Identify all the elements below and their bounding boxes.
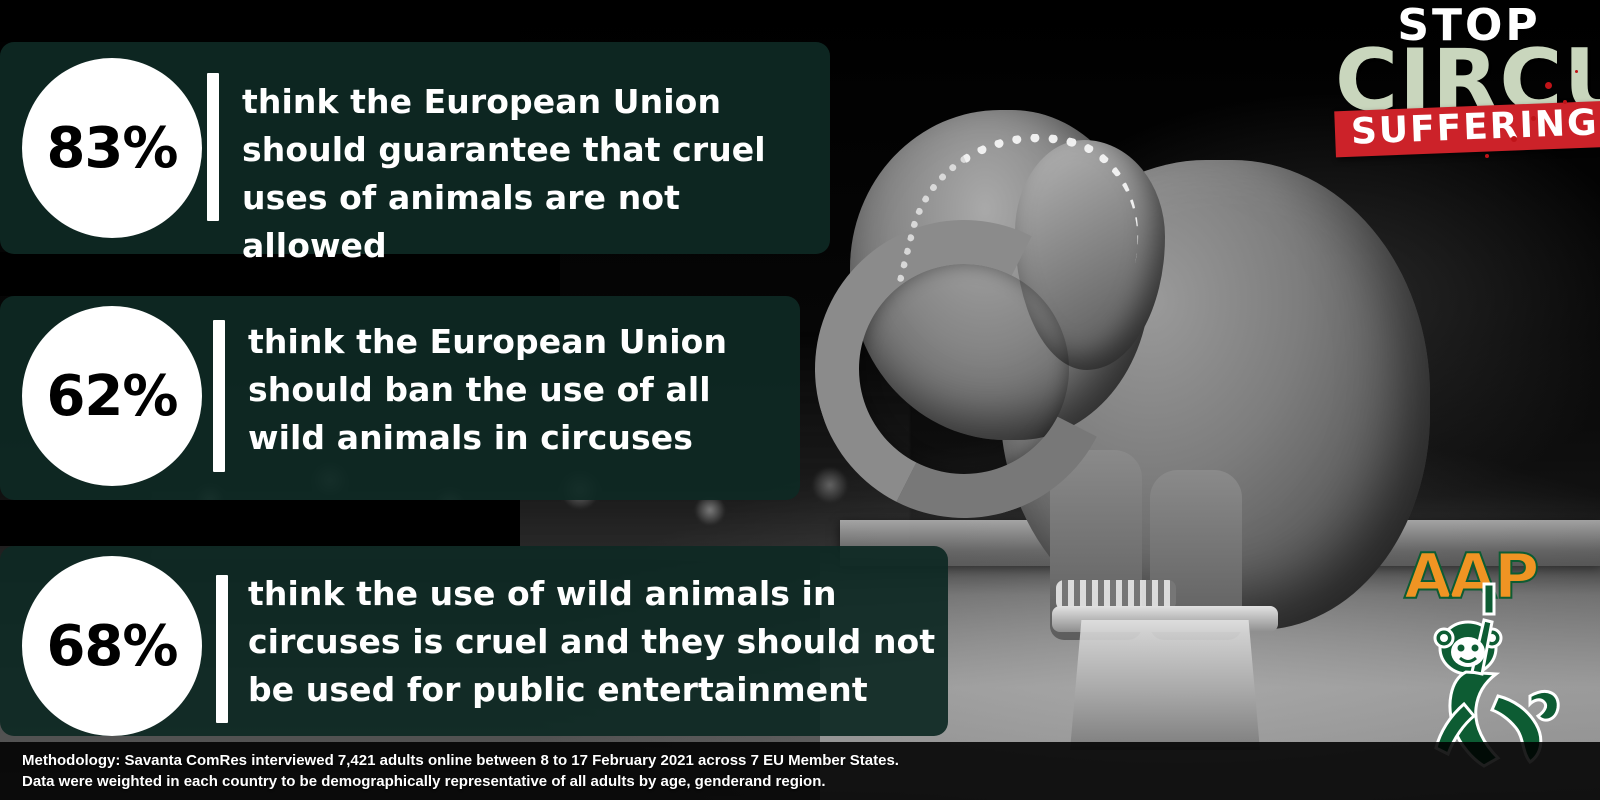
stop-circus-suffering-logo: STOP CIRCUS SUFFERING [1335,4,1597,184]
stat-circle-2: 62% [22,306,202,486]
aap-logo: AAP [1390,540,1590,775]
methodology-footer: Methodology: Savanta ComRes interviewed … [0,742,1600,800]
blood-splatter-icon [1575,70,1578,73]
blood-splatter-icon [1485,154,1489,158]
blood-splatter-icon [1563,100,1567,104]
circus-stool [1070,620,1260,750]
stat-divider-bar-2 [213,320,225,472]
divider-stripe [0,500,520,546]
stat-text-3: think the use of wild animals in circuse… [248,570,938,714]
stat-percent-1: 83% [46,116,177,181]
methodology-line-2: Data were weighted in each country to be… [22,773,826,790]
blood-splatter-icon [1545,82,1552,89]
blood-splatter-icon [1511,136,1517,142]
stat-circle-1: 83% [22,58,202,238]
stat-text-1: think the European Union should guarante… [242,78,817,269]
blood-splatter-icon [1531,116,1536,121]
stat-divider-bar-3 [216,575,228,723]
stat-circle-3: 68% [22,556,202,736]
infographic-poster: STOP CIRCUS SUFFERING 83% think the Euro… [0,0,1600,800]
stat-text-2: think the European Union should ban the … [248,318,783,462]
stat-percent-3: 68% [46,614,177,679]
stat-divider-bar-1 [207,73,219,221]
methodology-line-1: Methodology: Savanta ComRes interviewed … [22,752,899,769]
logo-line-suffering: SUFFERING [1334,101,1600,158]
divider-stripe [0,0,520,42]
stat-percent-2: 62% [46,364,177,429]
